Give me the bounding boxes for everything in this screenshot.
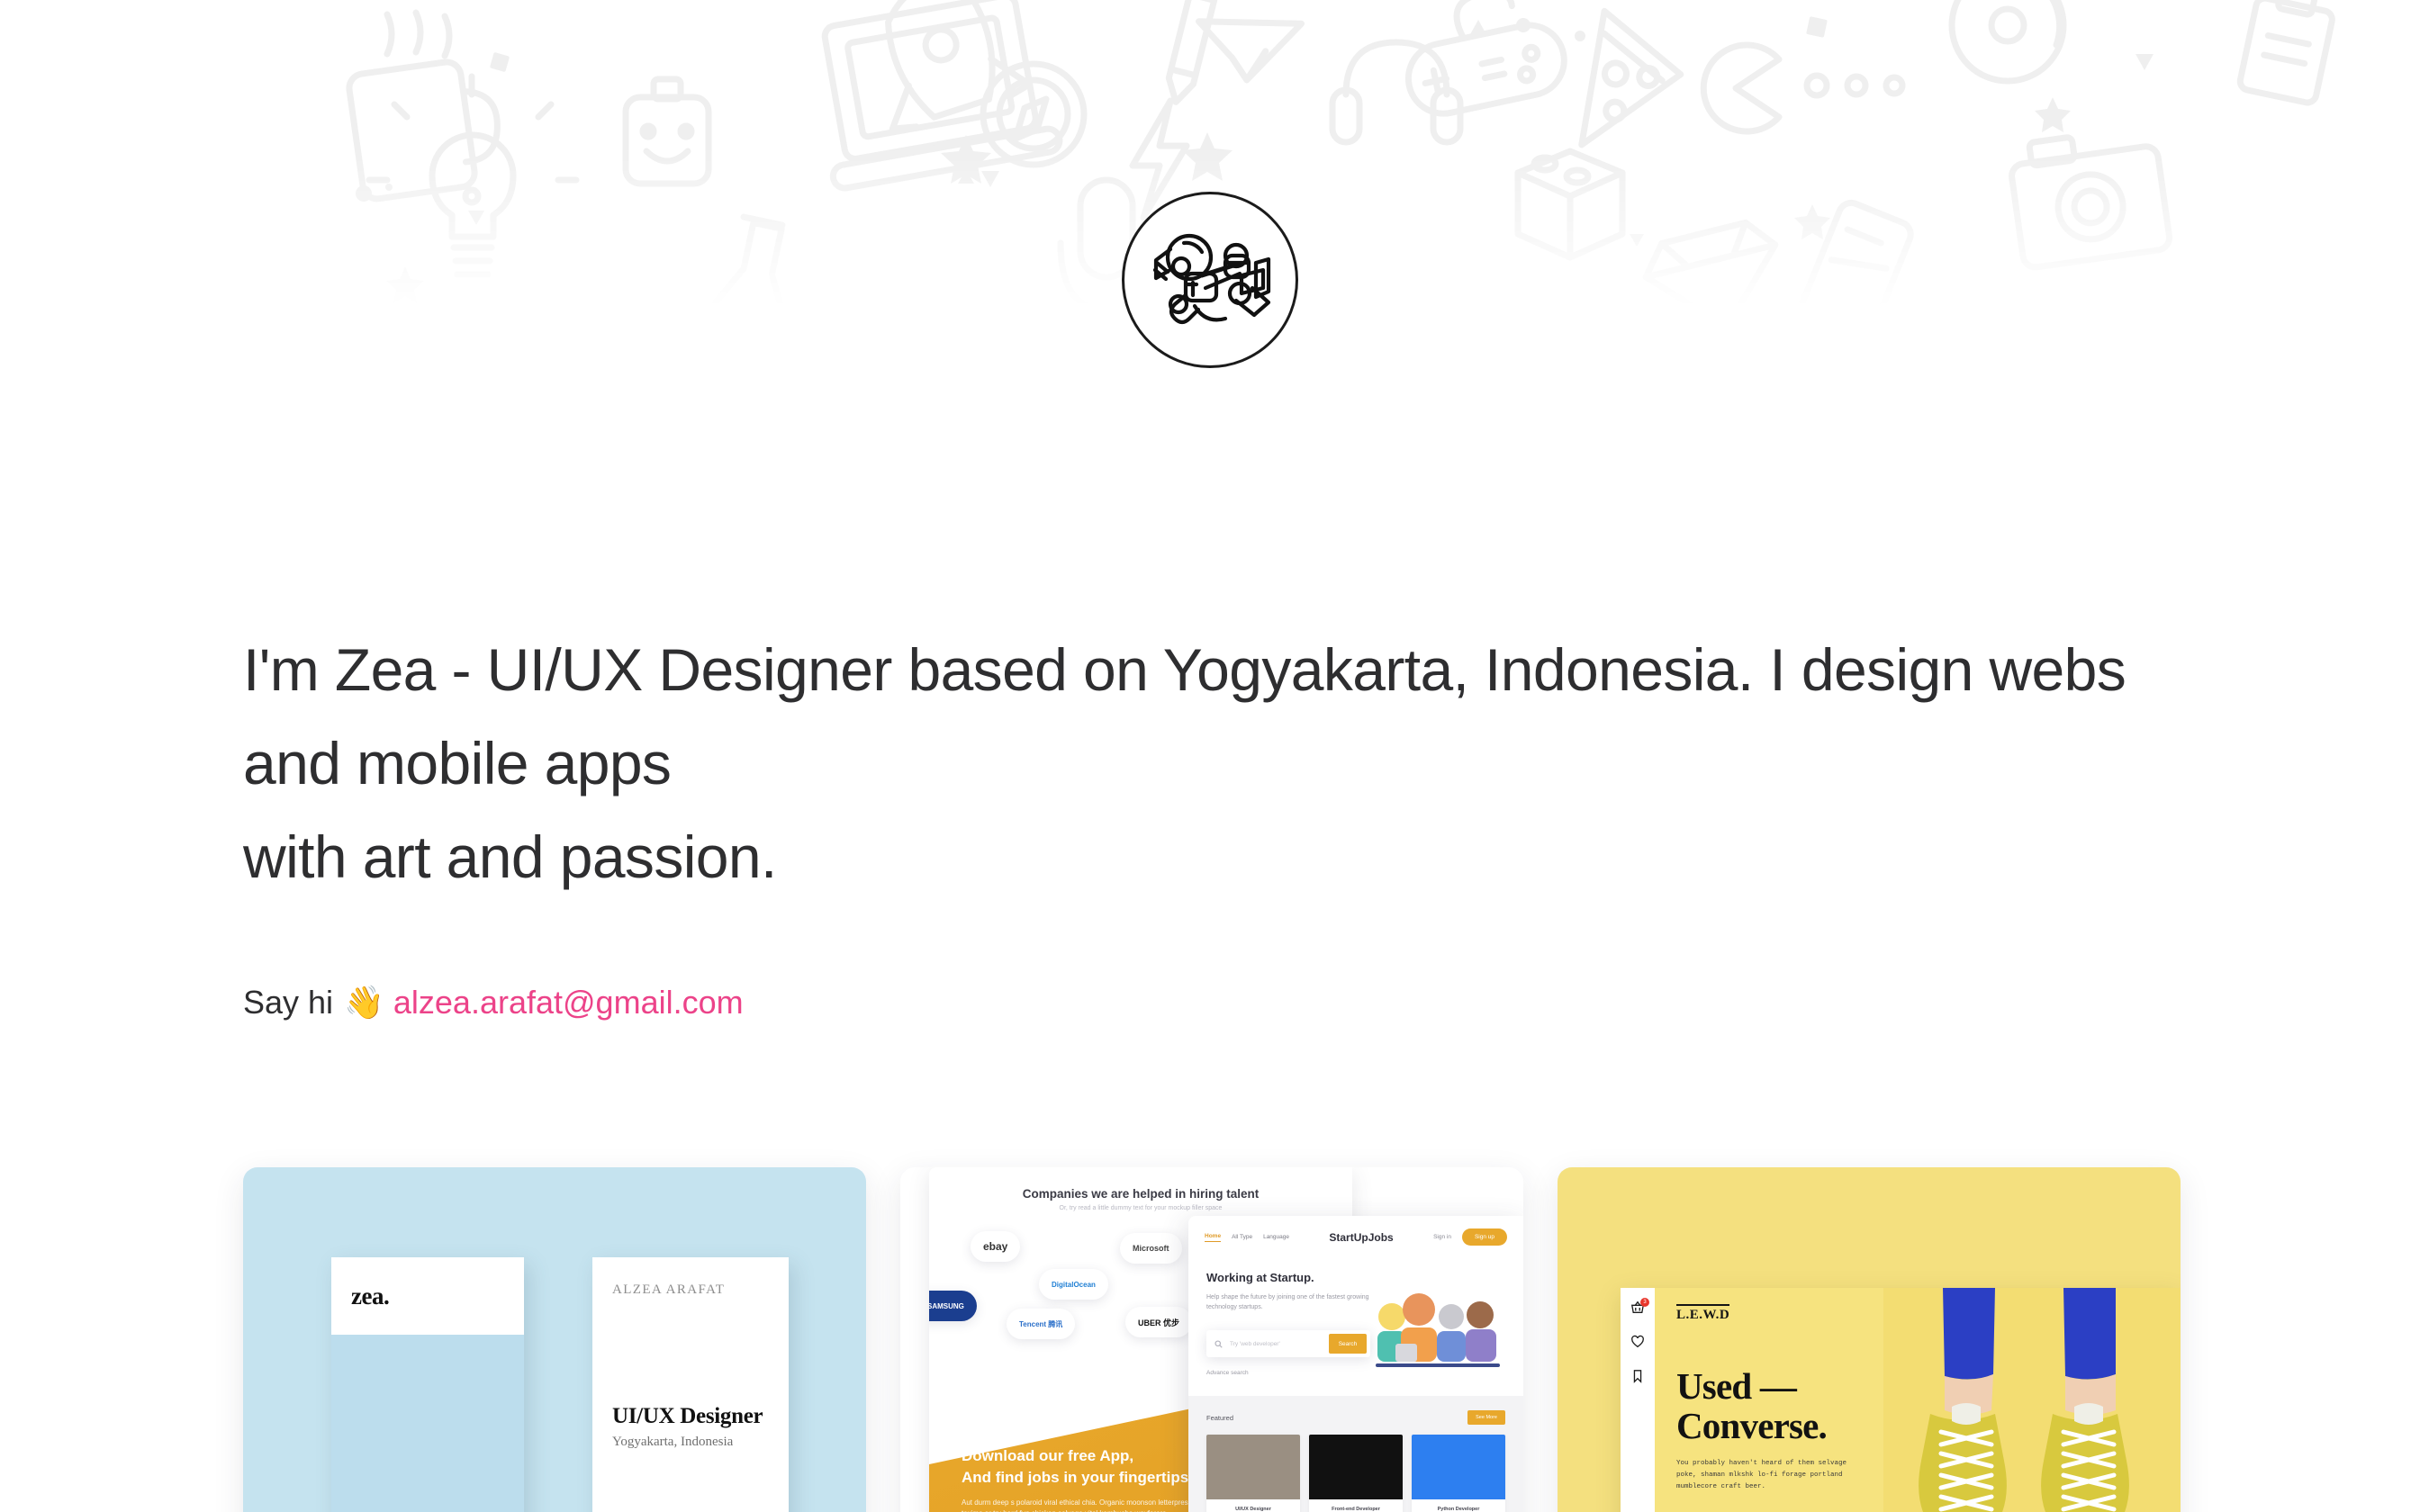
site-brand: StartUpJobs xyxy=(1329,1231,1393,1244)
contact-line: Say hi 👋 alzea.arafat@gmail.com xyxy=(243,983,2134,1022)
job-search-button[interactable]: Search xyxy=(1329,1334,1367,1354)
pacman-dot-icon xyxy=(1807,76,1827,95)
site-navbar: Home All Type Language StartUpJobs Sign … xyxy=(1188,1216,1523,1246)
team-illustration xyxy=(1370,1271,1505,1376)
laptop-icon xyxy=(808,0,1061,190)
compass-icon xyxy=(983,64,1084,165)
logo-pill: UBER 优步 xyxy=(1125,1307,1192,1337)
coffee-mug-icon xyxy=(348,13,502,201)
cart-count-badge: 3 xyxy=(1640,1298,1649,1307)
nav-item-home[interactable]: Home xyxy=(1205,1233,1221,1242)
triangle-icon xyxy=(1630,234,1644,247)
star-icon xyxy=(941,135,991,184)
triangle-icon xyxy=(1469,20,1487,36)
pacman-dot-icon xyxy=(1847,76,1865,94)
logo-pill: SAMSUNG xyxy=(929,1291,977,1321)
compact-disc-icon xyxy=(1952,0,2063,81)
job-card-image xyxy=(1309,1435,1403,1499)
business-card-back: ALZEA ARAFAT UI/UX Designer Yogyakarta, … xyxy=(592,1257,789,1512)
logo-pill: Microsoft xyxy=(1120,1233,1182,1264)
lightbulb-icon xyxy=(369,76,576,274)
triangle-icon xyxy=(981,171,999,187)
star-icon xyxy=(386,266,424,303)
waving-hand-icon: 👋 xyxy=(344,986,384,1019)
gamepad-icon xyxy=(1394,0,1571,120)
bookmark-icon[interactable] xyxy=(1631,1369,1644,1387)
job-title: UI/UX Designer xyxy=(1212,1507,1295,1512)
triangle-icon xyxy=(958,169,974,184)
people-illustration-icon xyxy=(1370,1290,1505,1376)
page-title: I'm Zea - UI/UX Designer based on Yogyak… xyxy=(243,623,2134,904)
lewd-content: L.E.W.D Used — Converse. You probably ha… xyxy=(1655,1288,2181,1512)
hero-section: I'm Zea - UI/UX Designer based on Yogyak… xyxy=(243,623,2134,1022)
lego-brick-icon xyxy=(1518,151,1622,257)
rocket-icon xyxy=(853,0,1031,134)
featured-header: Featured See More xyxy=(1206,1410,1505,1425)
dot-icon xyxy=(385,184,393,191)
lewd-sidebar: 3 1/4 xyxy=(1621,1288,1655,1512)
smartphone-icon xyxy=(1791,199,1914,324)
dot-icon xyxy=(1516,18,1531,32)
say-hi-label: Say hi xyxy=(243,983,333,1022)
job-card-image xyxy=(1206,1435,1300,1499)
job-card[interactable]: Front-end Developer Uber Indonesia Full-… xyxy=(1309,1435,1403,1512)
startupjobs-home-page: Home All Type Language StartUpJobs Sign … xyxy=(1188,1216,1523,1512)
business-card-photo xyxy=(331,1335,524,1512)
diamond-icon xyxy=(1639,217,1792,324)
job-search-placeholder: Try 'web developer' xyxy=(1230,1341,1329,1347)
site-brand-prefix: StartUp xyxy=(1329,1231,1368,1244)
nav-item-all-type[interactable]: All Type xyxy=(1232,1234,1252,1240)
project-card-lewd-shop[interactable]: 3 1/4 L.E.W.D xyxy=(1558,1167,2181,1512)
person-role: UI/UX Designer xyxy=(612,1404,769,1429)
person-name: ALZEA ARAFAT xyxy=(612,1282,769,1298)
dot-icon xyxy=(356,185,372,202)
heart-icon[interactable] xyxy=(1630,1335,1645,1353)
triangle-icon xyxy=(468,211,484,225)
product-description: You probably haven't heard of them selva… xyxy=(1676,1458,1847,1493)
pencil-icon xyxy=(1163,0,1214,105)
sign-up-button[interactable]: Sign up xyxy=(1462,1228,1507,1246)
camera-icon xyxy=(2008,125,2172,268)
download-heading: Download our free App, And find jobs in … xyxy=(962,1445,1223,1489)
job-search-bar[interactable]: Try 'web developer' Search xyxy=(1206,1330,1370,1357)
astronaut-logo-icon xyxy=(1122,192,1298,368)
product-headline-line2: Converse. xyxy=(1676,1405,1827,1446)
project-card-personal-branding[interactable]: zea. xyxy=(243,1167,866,1512)
lego-head-icon xyxy=(626,79,709,184)
job-card[interactable]: Python Developer Dropbox Inc Remote | Ne… xyxy=(1412,1435,1505,1512)
site-hero-heading: Working at Startup. xyxy=(1206,1271,1370,1284)
pizza-slice-icon xyxy=(1569,11,1691,165)
paper-plane-icon xyxy=(1199,0,1312,88)
logo-pill: Tencent 腾讯 xyxy=(1007,1309,1075,1339)
see-more-button[interactable]: See More xyxy=(1467,1410,1505,1425)
square-icon xyxy=(1806,16,1828,38)
brand-mark: zea. xyxy=(351,1282,389,1310)
star-icon xyxy=(1182,132,1233,181)
email-link[interactable]: alzea.arafat@gmail.com xyxy=(393,983,744,1022)
lewd-brand-mark: L.E.W.D xyxy=(1676,1304,1729,1323)
flask-icon xyxy=(684,211,824,324)
project-card-grid: zea. xyxy=(243,1167,2179,1512)
headphones-icon xyxy=(1332,42,1460,142)
star-icon xyxy=(2035,97,2071,132)
lewd-product-page: 3 1/4 L.E.W.D xyxy=(1621,1288,2181,1512)
site-logo[interactable] xyxy=(1122,192,1298,368)
job-title: Python Developer xyxy=(1417,1507,1500,1512)
job-card-image xyxy=(1412,1435,1505,1499)
square-icon xyxy=(490,52,510,72)
companies-subheading: Or, try read a little dummy text for you… xyxy=(929,1205,1352,1211)
featured-label: Featured xyxy=(1206,1414,1233,1422)
featured-jobs-section: Featured See More UI/UX Designer Slack H… xyxy=(1188,1396,1523,1512)
site-hero: Working at Startup. Help shape the futur… xyxy=(1188,1246,1523,1376)
download-app-content: Download our free App, And find jobs in … xyxy=(962,1445,1223,1512)
dot-icon xyxy=(1575,31,1585,41)
converse-shoes-photo xyxy=(1883,1288,2181,1512)
site-brand-suffix: Jobs xyxy=(1368,1231,1394,1244)
project-card-startupjobs[interactable]: Companies we are helped in hiring talent… xyxy=(900,1167,1523,1512)
site-hero-paragraph: Help shape the future by joining one of … xyxy=(1206,1292,1370,1312)
shopping-basket-icon[interactable]: 3 xyxy=(1630,1300,1645,1318)
business-card-front: zea. xyxy=(331,1257,524,1512)
job-title: Front-end Developer xyxy=(1314,1507,1397,1512)
nav-item-language[interactable]: Language xyxy=(1263,1234,1289,1240)
logo-pill: DigitalOcean xyxy=(1039,1269,1108,1300)
person-location: Yogyakarta, Indonesia xyxy=(612,1435,769,1450)
logo-pill: ebay xyxy=(971,1231,1020,1262)
clipboard-icon xyxy=(2238,0,2336,104)
download-paragraph: Aut durm deep s polaroid viral ethical c… xyxy=(962,1498,1223,1512)
star-icon xyxy=(1794,204,1830,239)
companies-heading: Companies we are helped in hiring talent xyxy=(929,1187,1352,1201)
pacman-icon xyxy=(1703,45,1779,131)
business-card-logo-area: zea. xyxy=(331,1257,524,1335)
pacman-dot-icon xyxy=(1886,77,1902,94)
triangle-icon xyxy=(2136,54,2154,70)
job-card[interactable]: UI/UX Designer Slack HQ Full-time | Port… xyxy=(1206,1435,1300,1512)
portfolio-page: I'm Zea - UI/UX Designer based on Yogyak… xyxy=(0,0,2420,1512)
search-icon xyxy=(1215,1340,1223,1348)
job-card-row: UI/UX Designer Slack HQ Full-time | Port… xyxy=(1206,1435,1505,1512)
advance-search-toggle[interactable]: Advance search xyxy=(1206,1370,1370,1376)
product-headline-line1: Used — xyxy=(1676,1365,1796,1407)
product-photo xyxy=(1883,1288,2181,1512)
sign-in-link[interactable]: Sign in xyxy=(1433,1234,1451,1240)
